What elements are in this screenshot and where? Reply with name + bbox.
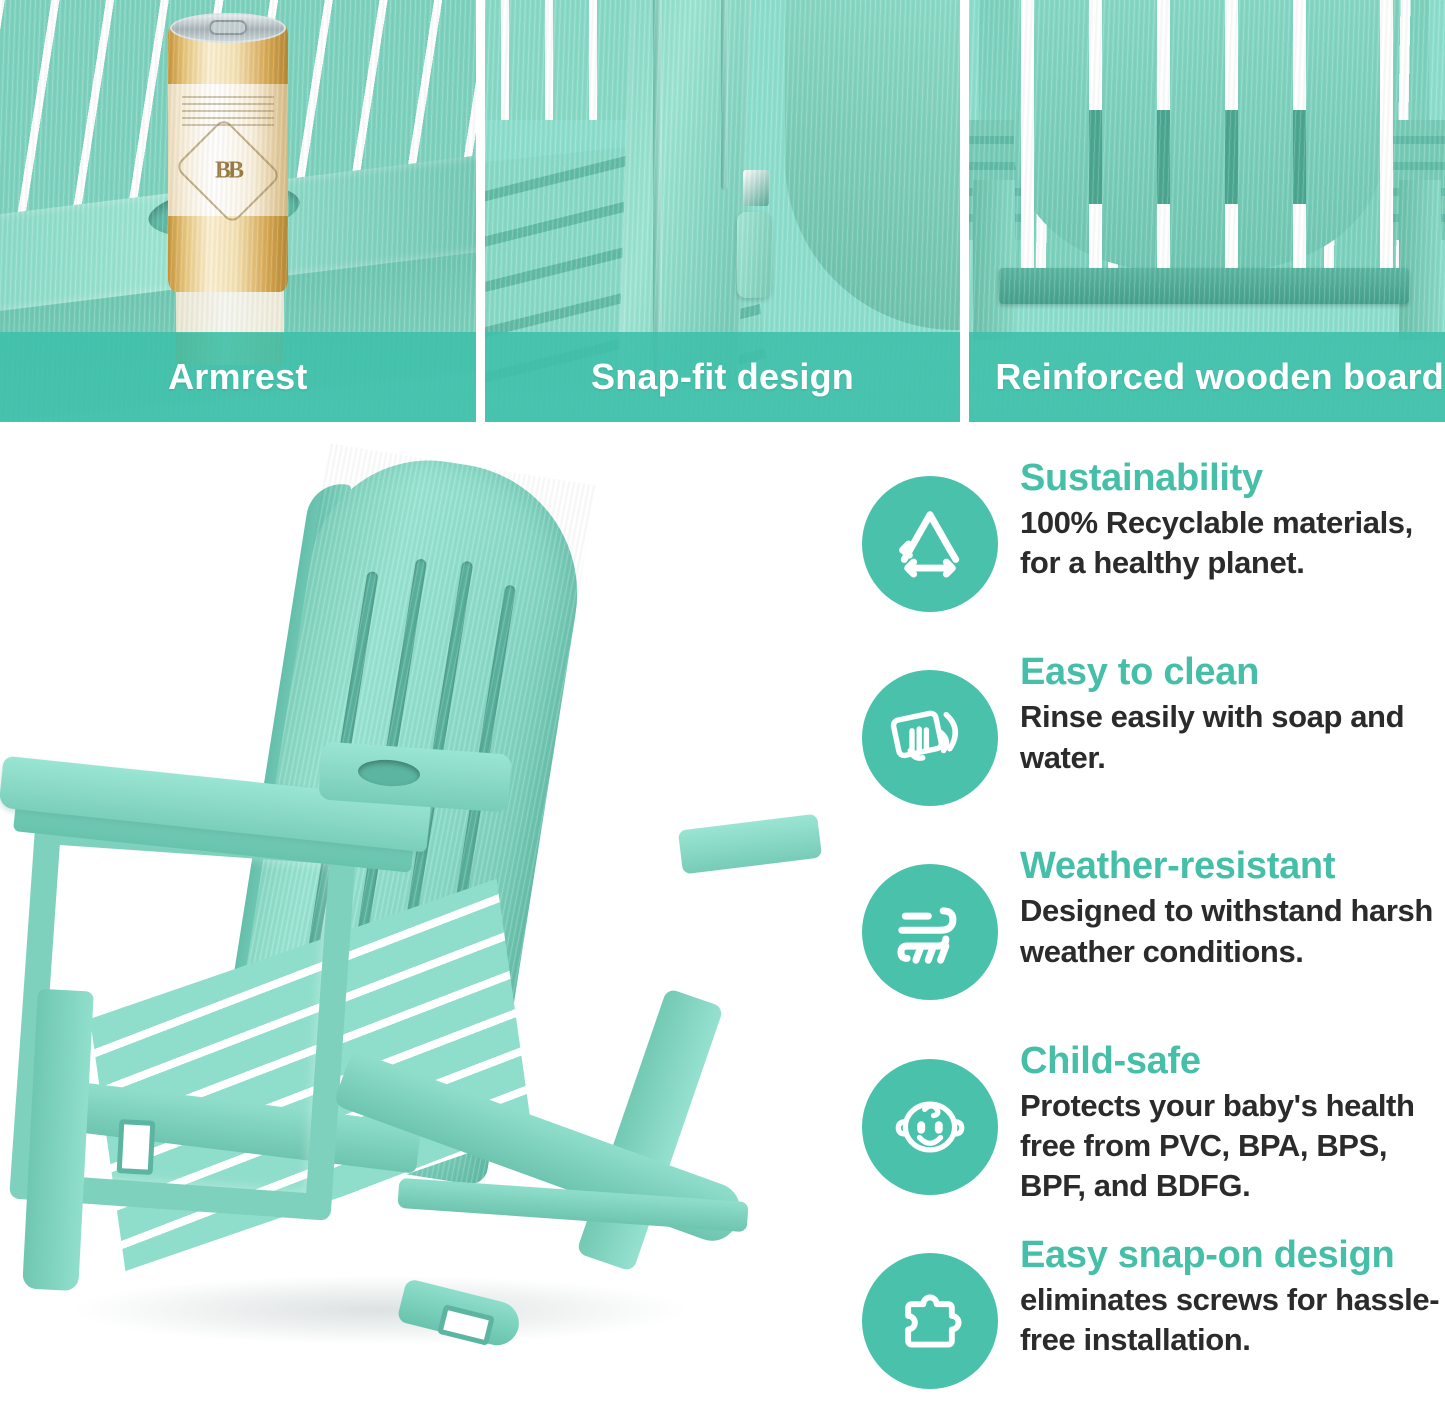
- detail-panel-reinforced-board: Reinforced wooden board: [969, 0, 1445, 422]
- wipe-cloth-icon: [862, 670, 998, 806]
- feature-title: Child-safe: [1020, 1041, 1445, 1082]
- caption-label: Reinforced wooden board: [995, 356, 1444, 398]
- beverage-can: BB: [168, 22, 288, 292]
- feature-row-sustainability: Sustainability 100% Recyclable materials…: [862, 452, 1445, 646]
- feature-title: Easy to clean: [1020, 652, 1445, 693]
- caption-band-armrest: Armrest: [0, 332, 476, 422]
- feature-description: Rinse easily with soap and water.: [1020, 697, 1445, 778]
- feature-title: Sustainability: [1020, 458, 1445, 499]
- feature-description: 100% Recyclable materials, for a healthy…: [1020, 503, 1445, 584]
- feature-title: Easy snap-on design: [1020, 1235, 1445, 1276]
- puzzle-piece-icon: [862, 1253, 998, 1389]
- adirondack-chair-photo: [0, 430, 860, 1423]
- wind-rain-icon: [862, 864, 998, 1000]
- baby-face-icon: [862, 1059, 998, 1195]
- feature-row-easy-to-clean: Easy to clean Rinse easily with soap and…: [862, 646, 1445, 840]
- feature-description: Designed to withstand harsh weather cond…: [1020, 891, 1445, 972]
- caption-label: Armrest: [168, 356, 307, 398]
- feature-title: Weather-resistant: [1020, 846, 1445, 887]
- detail-panel-armrest: BB Armrest: [0, 0, 476, 422]
- caption-band-reinforced-board: Reinforced wooden board: [969, 332, 1445, 422]
- feature-description: Protects your baby's health free from PV…: [1020, 1086, 1445, 1207]
- caption-label: Snap-fit design: [591, 356, 854, 398]
- feature-row-child-safe: Child-safe Protects your baby's health f…: [862, 1035, 1445, 1229]
- detail-panel-strip: BB Armrest Snap-fit design: [0, 0, 1445, 422]
- feature-row-easy-snap-on: Easy snap-on design eliminates screws fo…: [862, 1229, 1445, 1423]
- caption-band-snap-fit: Snap-fit design: [485, 332, 961, 422]
- feature-row-weather-resistant: Weather-resistant Designed to withstand …: [862, 840, 1445, 1034]
- feature-description: eliminates screws for hassle-free instal…: [1020, 1280, 1445, 1361]
- recycle-icon: [862, 476, 998, 612]
- detail-panel-snap-fit: Snap-fit design: [485, 0, 961, 422]
- feature-list: Sustainability 100% Recyclable materials…: [862, 452, 1445, 1423]
